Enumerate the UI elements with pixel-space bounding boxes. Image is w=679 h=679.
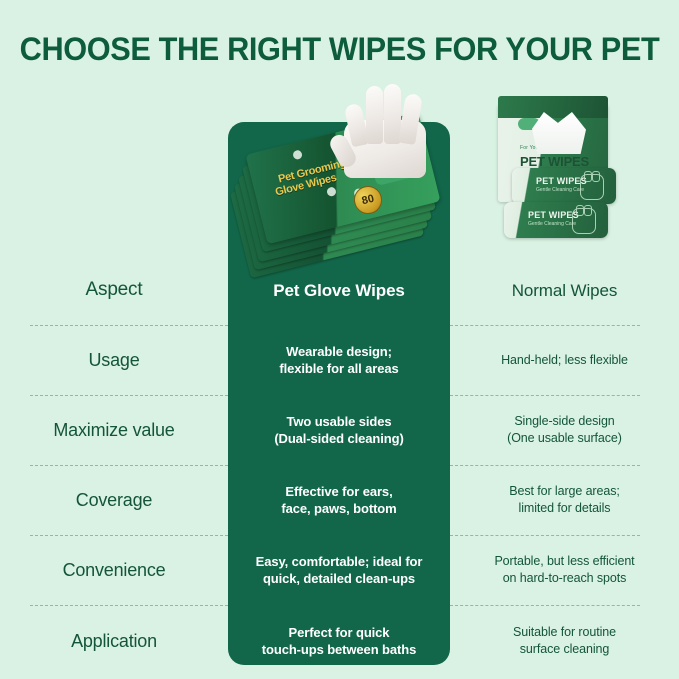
- row-value-normal: Hand-held; less flexible: [450, 352, 679, 369]
- row-value-glove: Effective for ears,face, paws, bottom: [228, 483, 450, 517]
- table-row: Maximize value Two usable sides(Dual-sid…: [0, 395, 679, 465]
- row-value-normal: Single-side design(One usable surface): [450, 413, 679, 447]
- table-row: Usage Wearable design;flexible for all a…: [0, 325, 679, 395]
- comparison-infographic: CHOOSE THE RIGHT WIPES FOR YOUR PET Pet …: [0, 0, 679, 679]
- packet-dot-icon: [326, 186, 337, 197]
- pouch-sub: Gentle Cleaning Care: [536, 187, 584, 193]
- row-label: Maximize value: [0, 419, 228, 441]
- table-header-row: Aspect Pet Glove Wipes Normal Wipes: [0, 255, 679, 325]
- row-label: Coverage: [0, 489, 228, 511]
- row-value-normal: Suitable for routinesurface cleaning: [450, 624, 679, 658]
- product-image-row: Pet Grooming Glove Wipes 80 For Your Pet…: [0, 82, 679, 267]
- row-label: Application: [0, 630, 228, 652]
- row-value-glove: Perfect for quicktouch-ups between baths: [228, 624, 450, 658]
- header-glove-wipes: Pet Glove Wipes: [228, 282, 450, 299]
- row-value-normal: Best for large areas;limited for details: [450, 483, 679, 517]
- white-glove-image: [336, 82, 434, 174]
- box-label: PET WIPES: [520, 154, 589, 169]
- table-row: Application Perfect for quicktouch-ups b…: [0, 605, 679, 677]
- table-row: Convenience Easy, comfortable; ideal for…: [0, 535, 679, 605]
- row-value-glove: Wearable design;flexible for all areas: [228, 343, 450, 377]
- page-title: CHOOSE THE RIGHT WIPES FOR YOUR PET: [14, 30, 666, 68]
- header-normal-wipes: Normal Wipes: [450, 282, 679, 299]
- row-label: Convenience: [0, 559, 228, 581]
- dog-outline-icon: [572, 208, 596, 234]
- wipes-pouch: PET WIPES Gentle Cleaning Care: [504, 202, 608, 238]
- glove-finger: [366, 86, 383, 144]
- dog-outline-icon: [580, 174, 604, 200]
- header-aspect: Aspect: [0, 279, 228, 301]
- row-label: Usage: [0, 349, 228, 371]
- row-value-normal: Portable, but less efficienton hard-to-r…: [450, 553, 679, 587]
- normal-wipes-image: For Your Pet's Everyday PET WIPES PET WI…: [486, 96, 626, 256]
- wipes-pouch: PET WIPES Gentle Cleaning Care: [512, 168, 616, 204]
- comparison-table: Aspect Pet Glove Wipes Normal Wipes Usag…: [0, 255, 679, 677]
- pouch-sub: Gentle Cleaning Care: [528, 221, 576, 227]
- packet-dot-icon: [292, 149, 303, 160]
- wipes-box-lid: [498, 96, 608, 118]
- table-row: Coverage Effective for ears,face, paws, …: [0, 465, 679, 535]
- row-value-glove: Two usable sides(Dual-sided cleaning): [228, 413, 450, 447]
- row-value-glove: Easy, comfortable; ideal forquick, detai…: [228, 553, 450, 587]
